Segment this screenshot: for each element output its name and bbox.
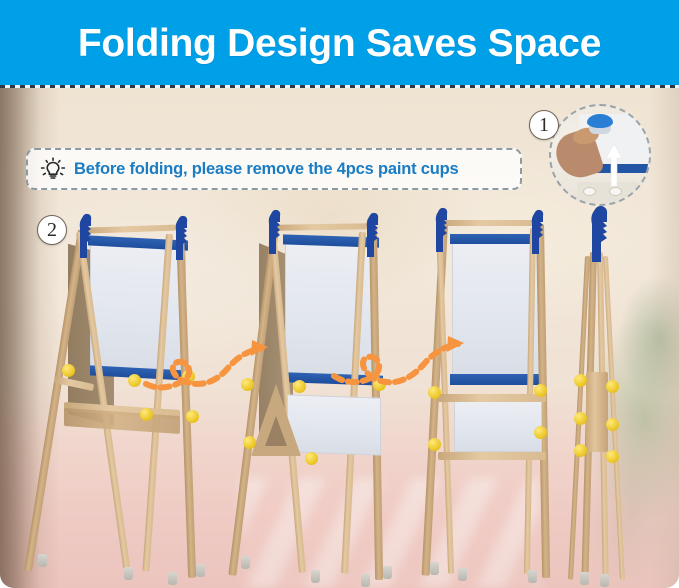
adjust-knob — [534, 384, 547, 397]
easel-foot — [361, 574, 370, 587]
dinosaur-topper-icon — [361, 211, 381, 257]
fold-arrow-1 — [142, 338, 274, 400]
adjust-knob — [606, 418, 619, 431]
easel-foot — [528, 570, 537, 583]
step-badge-2: 2 — [37, 215, 67, 245]
tip-text: Before folding, please remove the 4pcs p… — [74, 160, 458, 179]
easel-foot — [196, 564, 205, 577]
easel-folded — [572, 204, 628, 588]
up-arrow-icon — [605, 142, 623, 188]
adjust-knob — [534, 426, 547, 439]
adjust-knob — [606, 380, 619, 393]
dinosaur-topper-icon — [584, 204, 610, 262]
adjust-knob — [62, 364, 75, 377]
adjust-knob — [186, 410, 199, 423]
easel-lower-board — [287, 394, 381, 455]
easel-lower-board — [454, 400, 542, 452]
adjust-knob — [574, 412, 587, 425]
paint-cup-removal-photo — [549, 104, 651, 206]
easel-foot — [38, 554, 47, 567]
adjust-knob — [140, 408, 153, 421]
dinosaur-topper-icon — [430, 206, 450, 252]
easel-top-rail — [442, 220, 538, 226]
easel-lower-rail-bottom — [438, 452, 546, 460]
dinosaur-topper-icon — [74, 212, 94, 258]
page-title: Folding Design Saves Space — [78, 22, 601, 66]
easel-top-rail — [275, 223, 371, 231]
step-badge-1-number: 1 — [539, 114, 549, 137]
easel-foot — [124, 567, 133, 580]
easel-foot — [168, 572, 177, 585]
adjust-knob — [305, 452, 318, 465]
easel-folded-board-block — [586, 372, 608, 452]
dinosaur-topper-icon — [526, 208, 546, 254]
scene-right-shadow — [649, 88, 679, 588]
step-badge-1: 1 — [529, 110, 559, 140]
easel-foot — [600, 574, 609, 587]
adjust-knob — [428, 438, 441, 451]
adjust-knob — [574, 444, 587, 457]
easel-foot — [311, 570, 320, 583]
easel-open — [48, 212, 228, 588]
adjust-knob — [128, 374, 141, 387]
easel-foot — [241, 556, 250, 569]
dinosaur-topper-icon — [263, 208, 283, 254]
inset-tray-hole — [609, 187, 622, 196]
easel-foot — [430, 562, 439, 575]
adjust-knob — [243, 436, 256, 449]
adjust-knob — [606, 450, 619, 463]
easel-foot — [458, 568, 467, 581]
inset-tray-hole — [583, 187, 596, 196]
paint-cup-lid — [587, 114, 613, 128]
easel-foot — [580, 572, 589, 585]
adjust-knob — [574, 374, 587, 387]
dinosaur-topper-icon — [170, 214, 190, 260]
step-badge-2-number: 2 — [47, 219, 57, 242]
adjust-knob — [293, 380, 306, 393]
lightbulb-icon — [40, 156, 66, 182]
tip-callout: Before folding, please remove the 4pcs p… — [26, 148, 522, 190]
poster: Folding Design Saves Space — [0, 0, 679, 588]
easel-front-leg-right — [176, 230, 196, 578]
fold-arrow-2 — [330, 334, 470, 398]
easel-foot — [383, 566, 392, 579]
header-banner: Folding Design Saves Space — [0, 0, 679, 88]
